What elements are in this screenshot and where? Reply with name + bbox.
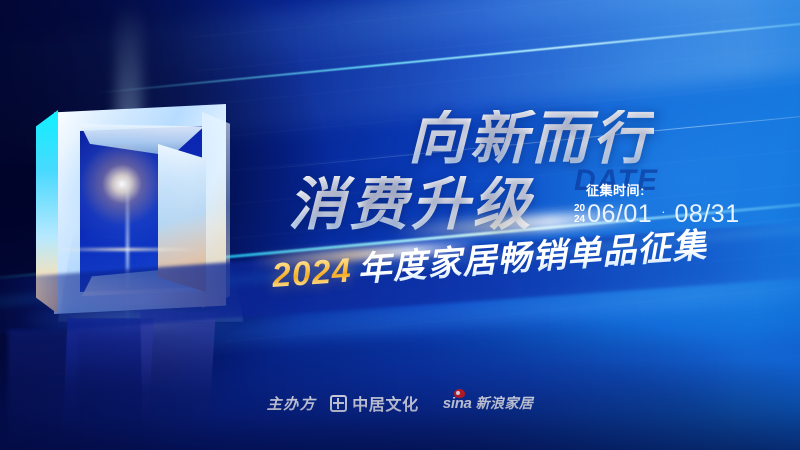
organizer-logo: 中居文化: [330, 391, 419, 415]
media-partner-logo: sina 新浪家居: [443, 393, 534, 413]
zhong-ju-logo-icon: [330, 395, 347, 412]
date-start: 06/01: [587, 202, 652, 227]
date-separator-icon: ·: [661, 205, 665, 218]
date-end: 08/31: [675, 202, 740, 227]
media-partner-name: 新浪家居: [476, 393, 534, 413]
date-label: 征集时间:: [586, 184, 645, 197]
organizer-label: 主办方: [267, 393, 317, 414]
subtitle-year: 2024: [271, 251, 359, 295]
footer-sponsors: 主办方 中居文化 sina 新浪家居: [0, 388, 800, 418]
headline-line-1: 向新而行: [408, 110, 654, 168]
organizer-name: 中居文化: [352, 391, 419, 415]
date-value: 20 24 06/01 · 08/31: [574, 202, 740, 227]
sina-wordmark: sina: [443, 396, 472, 411]
sina-logo: sina: [443, 396, 472, 411]
promo-banner: 向新而行 消费升级 DATE 征集时间: 20 24 06/01 · 08/31…: [0, 0, 800, 450]
date-year-top: 20: [574, 204, 585, 214]
date-year-stacked: 20 24: [574, 204, 585, 224]
date-year-bottom: 24: [574, 215, 585, 225]
sina-eye-icon: [454, 389, 465, 398]
